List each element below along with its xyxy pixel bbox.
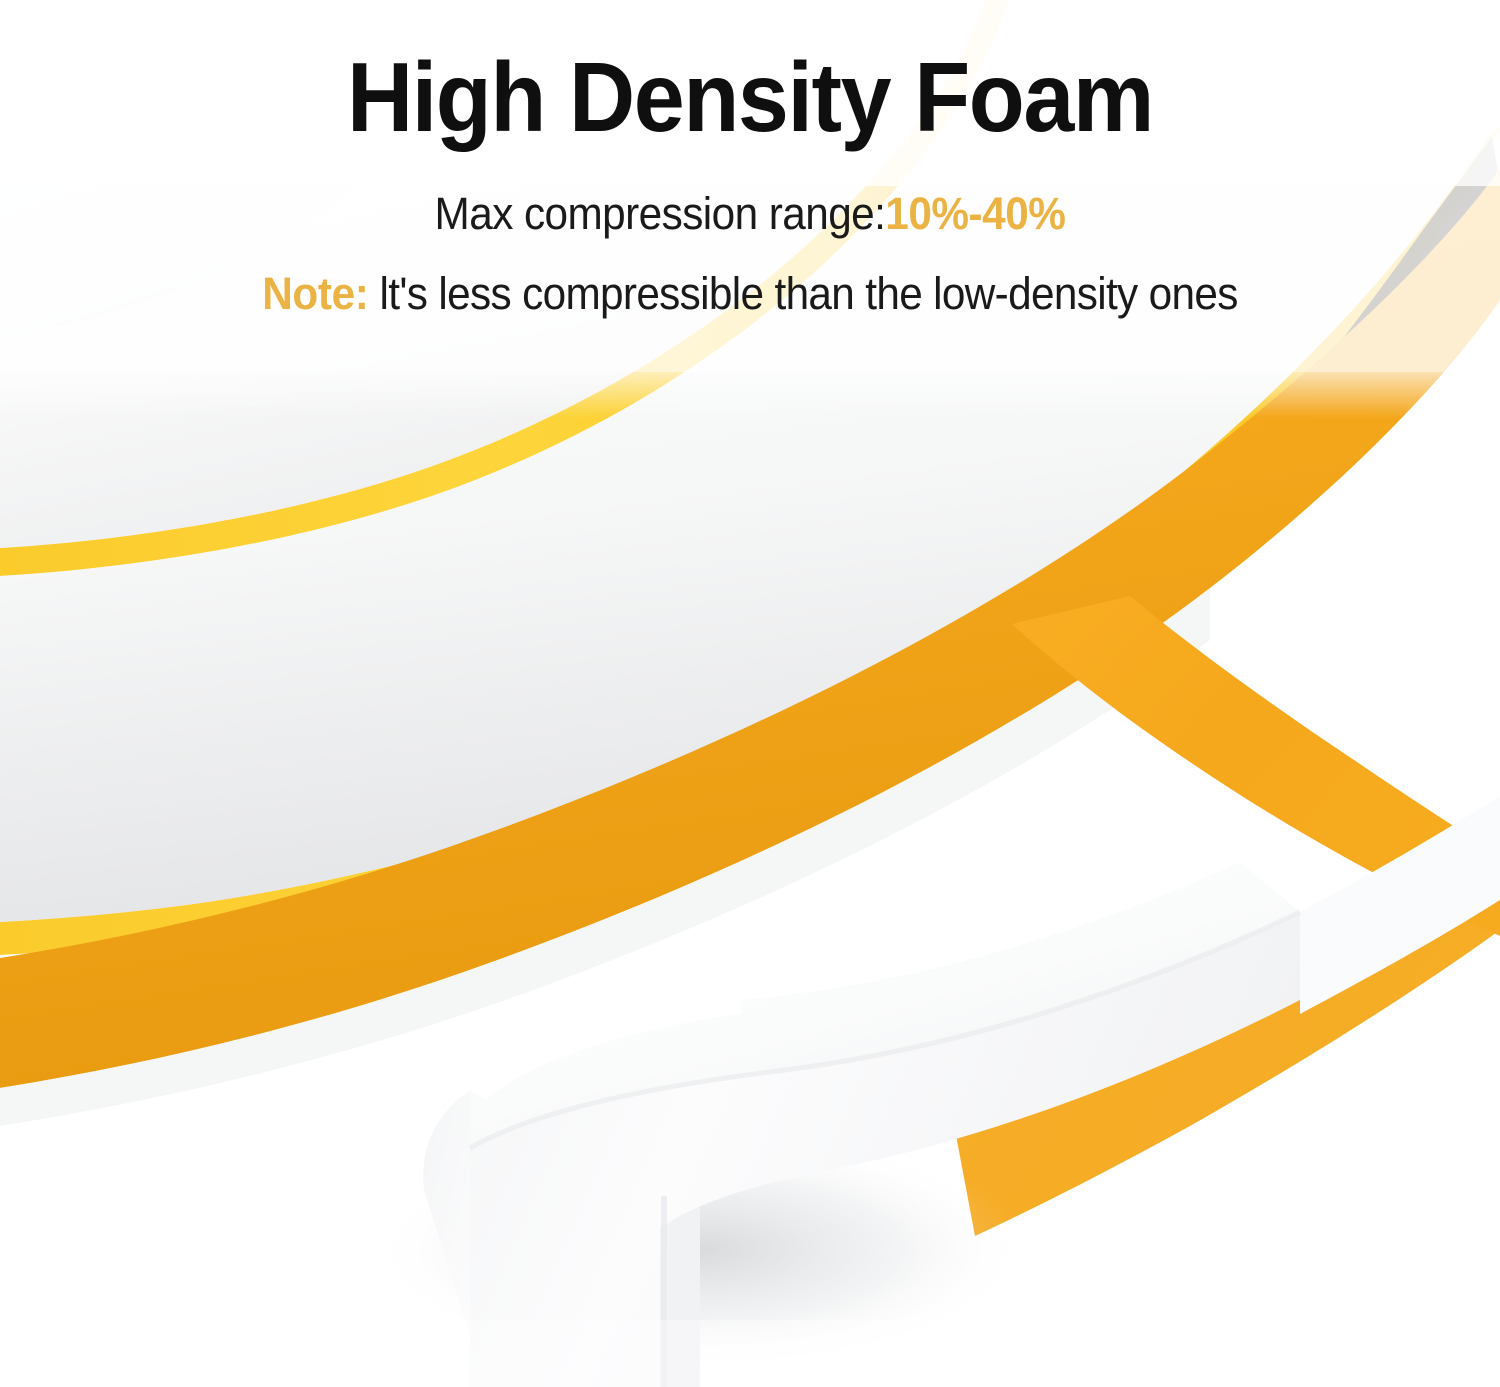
banner-copy: High Density Foam Max compression range:… [0, 0, 1500, 318]
photo-bottom-vignette [0, 1320, 1500, 1387]
note-text: lt's less compressible than the low-dens… [368, 268, 1237, 319]
compression-range-value: 10%-40% [885, 188, 1065, 239]
note-label: Note: [262, 268, 368, 319]
compression-range-line: Max compression range:10%-40% [45, 190, 1455, 237]
product-infographic: High Density Foam Max compression range:… [0, 0, 1500, 1387]
note-line: Note: lt's less compressible than the lo… [45, 270, 1455, 317]
compression-range-label: Max compression range: [435, 188, 886, 239]
page-title: High Density Foam [49, 48, 1452, 146]
